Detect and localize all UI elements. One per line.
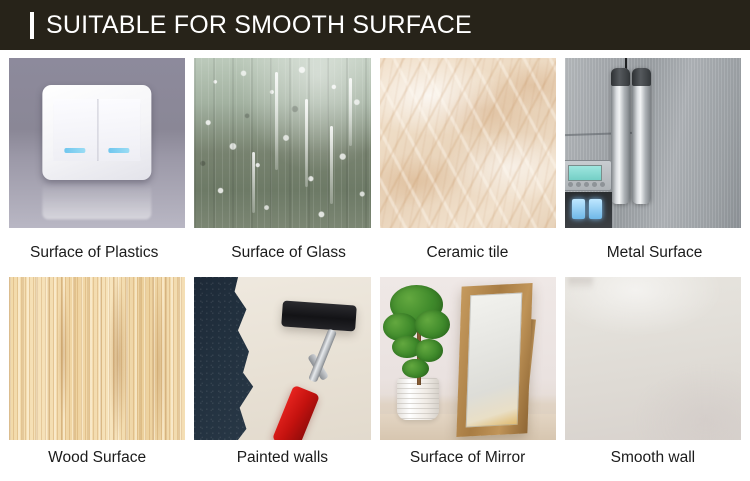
painted-area [194,277,272,440]
switch-rocker-right [97,99,141,162]
fridge-display-screen [568,165,601,181]
water-rivulet [349,78,352,146]
grid-item-ceramic-tile[interactable]: Ceramic tile [380,58,556,277]
plant-foliage [402,359,428,379]
caption-wood-surface: Wood Surface [9,440,185,474]
fridge-button-row [568,181,605,188]
water-rivulet [252,152,255,213]
standing-mirror-image [380,277,556,440]
refrigerator-image [565,58,741,228]
caption-surface-of-plastics: Surface of Plastics [9,228,185,277]
header-bar: SUITABLE FOR SMOOTH SURFACE [0,0,750,50]
thumbnail-surface-of-plastics [9,58,185,228]
water-rivulet [330,126,333,204]
surface-grid: Surface of Plastics Surface of Glass Cer… [9,58,741,474]
switch-rocker-left [53,99,97,162]
switch-indicator-icon [65,148,86,153]
thumbnail-wood-surface [9,277,185,440]
fridge-handle-left [611,68,630,204]
caption-surface-of-mirror: Surface of Mirror [380,440,556,474]
light-switch-image [9,58,185,228]
grid-item-surface-of-mirror[interactable]: Surface of Mirror [380,277,556,474]
caption-painted-walls: Painted walls [194,440,370,474]
smooth-wall-image [565,277,741,440]
fridge-button-icon [600,182,605,187]
mirror-wooden-frame [456,283,532,437]
grid-item-painted-walls[interactable]: Painted walls [194,277,370,474]
promo-banner: SUITABLE FOR SMOOTH SURFACE [0,0,750,481]
caption-metal-surface: Metal Surface [565,228,741,277]
switch-indicator-icon [108,148,129,153]
fridge-button-icon [568,182,573,187]
fridge-control-panel [565,160,612,191]
fridge-button-icon [592,182,597,187]
dispenser-light-icon [572,199,584,219]
thumbnail-ceramic-tile [380,58,556,228]
paint-roller-handle [272,385,320,440]
caption-smooth-wall: Smooth wall [565,440,741,474]
caption-ceramic-tile: Ceramic tile [380,228,556,277]
handle-cap [611,68,630,86]
thumbnail-painted-walls [194,277,370,440]
handle-cap [632,68,651,86]
thumbnail-smooth-wall [565,277,741,440]
page-title: SUITABLE FOR SMOOTH SURFACE [46,12,472,39]
dispenser-light-icon [589,199,601,219]
grid-item-surface-of-plastics[interactable]: Surface of Plastics [9,58,185,277]
grid-item-wood-surface[interactable]: Wood Surface [9,277,185,474]
thumbnail-surface-of-glass [194,58,370,228]
wet-glass-image [194,58,370,228]
wood-grain-image [9,277,185,440]
ceramic-tile-image [380,58,556,228]
grid-item-smooth-wall[interactable]: Smooth wall [565,277,741,474]
switch-reflection [42,182,151,219]
mirror-glass [466,293,523,428]
paint-roller-image [194,277,370,440]
fridge-button-icon [584,182,589,187]
paint-roller-sleeve [282,301,358,332]
fridge-water-dispenser [565,192,613,228]
plant-foliage [415,310,450,339]
water-rivulet [275,72,278,171]
switch-rocker-group [53,99,140,162]
caption-surface-of-glass: Surface of Glass [194,228,370,277]
header-accent-bar [30,12,34,39]
water-rivulet [305,99,308,187]
grid-item-metal-surface[interactable]: Metal Surface [565,58,741,277]
switch-plate [42,85,151,180]
thumbnail-metal-surface [565,58,741,228]
fridge-button-icon [576,182,581,187]
thumbnail-surface-of-mirror [380,277,556,440]
grid-item-surface-of-glass[interactable]: Surface of Glass [194,58,370,277]
fridge-handle-right [632,68,651,204]
